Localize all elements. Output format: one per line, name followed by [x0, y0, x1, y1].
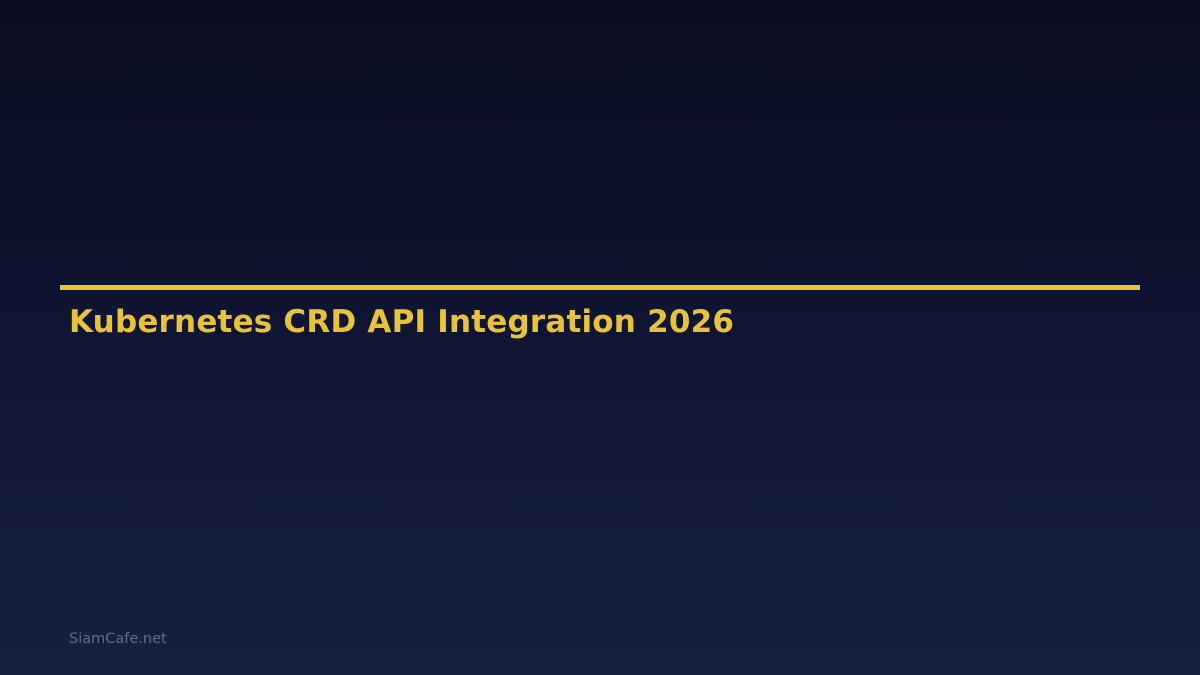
slide-title: Kubernetes CRD API Integration 2026	[69, 303, 1149, 341]
footer-attribution-label: SiamCafe.net	[69, 630, 669, 649]
slide-footer: SiamCafe.net	[69, 630, 669, 649]
title-block: Kubernetes CRD API Integration 2026	[69, 303, 1149, 341]
presentation-slide: Kubernetes CRD API Integration 2026 Siam…	[0, 0, 1200, 675]
accent-rule-divider	[60, 285, 1140, 290]
